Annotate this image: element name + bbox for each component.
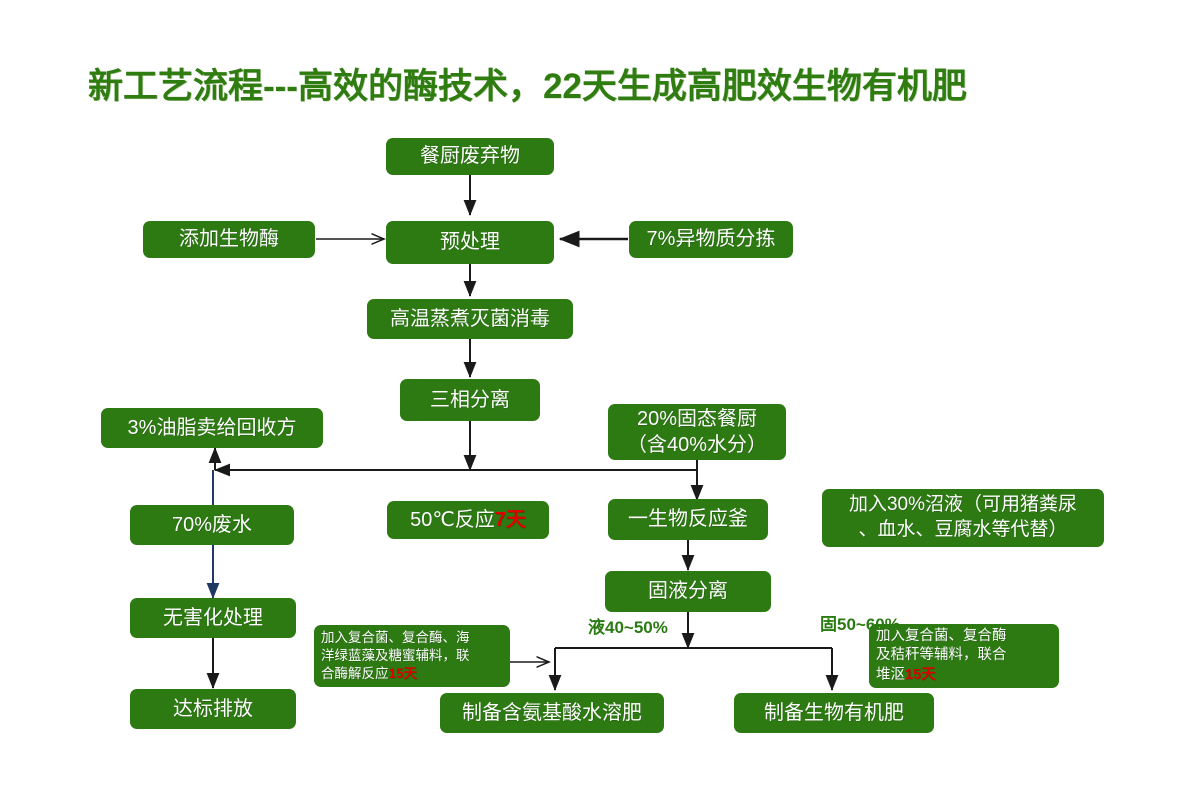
node-high-temp-sterilization[interactable]: 高温蒸煮灭菌消毒 <box>367 299 573 339</box>
node-left-additives-days: 15天 <box>389 666 418 681</box>
node-kitchen-waste[interactable]: 餐厨废弃物 <box>386 138 554 175</box>
node-amino-acid-fertilizer[interactable]: 制备含氨基酸水溶肥 <box>440 693 664 733</box>
node-standard-discharge-label: 达标排放 <box>173 697 253 722</box>
node-right-additives-line3-prefix: 堆沤 <box>876 667 905 683</box>
node-left-additives-line2: 洋绿蓝藻及糖蜜辅料，联 <box>321 647 470 665</box>
node-bio-organic-fertilizer-label: 制备生物有机肥 <box>764 701 904 726</box>
node-kitchen-waste-label: 餐厨废弃物 <box>420 144 520 169</box>
node-right-additives-line2: 及秸秆等辅料，联合 <box>876 646 1007 666</box>
node-solid-food-waste-line1: 20%固态餐厨 <box>637 406 757 432</box>
node-add-enzyme[interactable]: 添加生物酶 <box>143 221 315 258</box>
node-harmless-treatment[interactable]: 无害化处理 <box>130 598 296 638</box>
node-right-additives-days: 15天 <box>905 667 936 683</box>
node-solid-food-waste[interactable]: 20%固态餐厨 （含40%水分） <box>608 404 786 460</box>
node-left-additives[interactable]: 加入复合菌、复合酶、海 洋绿蓝藻及糖蜜辅料，联 合酶解反应15天 <box>314 625 510 687</box>
node-foreign-matter-sorting[interactable]: 7%异物质分拣 <box>629 221 793 258</box>
node-solid-liquid-separation[interactable]: 固液分离 <box>605 571 771 612</box>
node-biogas-slurry-line1: 加入30%沼液（可用猪粪尿 <box>849 493 1077 518</box>
node-solid-liquid-separation-label: 固液分离 <box>648 579 728 604</box>
node-pretreatment[interactable]: 预处理 <box>386 221 554 264</box>
node-left-additives-line3-prefix: 合酶解反应 <box>321 666 389 681</box>
node-add-enzyme-label: 添加生物酶 <box>179 227 279 252</box>
flowchart-canvas: 新工艺流程---高效的酶技术，22天生成高肥效生物有机肥 餐厨废弃物 添加生物酶… <box>0 0 1200 801</box>
node-waste-water[interactable]: 70%废水 <box>130 505 294 545</box>
edge-label-liquid-ratio: 液40~50% <box>588 613 668 638</box>
node-bioreactor-label: 一生物反应釜 <box>628 507 748 532</box>
node-amino-acid-fertilizer-label: 制备含氨基酸水溶肥 <box>462 701 642 726</box>
node-right-additives-line3: 堆沤15天 <box>876 666 936 686</box>
node-biogas-slurry-line2: 、血水、豆腐水等代替） <box>858 518 1067 543</box>
node-oil-sold-to-recycler-label: 3%油脂卖给回收方 <box>128 416 297 441</box>
node-oil-sold-to-recycler[interactable]: 3%油脂卖给回收方 <box>101 408 323 448</box>
node-foreign-matter-sorting-label: 7%异物质分拣 <box>647 227 776 252</box>
node-reaction-50c-days: 7天 <box>495 508 526 533</box>
node-left-additives-line3: 合酶解反应15天 <box>321 665 417 683</box>
node-solid-food-waste-line2: （含40%水分） <box>627 432 767 458</box>
edge-label-solid-ratio: 固50~60% <box>820 610 900 635</box>
node-waste-water-label: 70%废水 <box>172 513 252 538</box>
node-reaction-50c-prefix: 50℃反应 <box>410 508 495 533</box>
node-pretreatment-label: 预处理 <box>440 230 500 255</box>
node-high-temp-sterilization-label: 高温蒸煮灭菌消毒 <box>390 307 550 332</box>
node-three-phase-separation[interactable]: 三相分离 <box>400 379 540 421</box>
node-biogas-slurry[interactable]: 加入30%沼液（可用猪粪尿 、血水、豆腐水等代替） <box>822 489 1104 547</box>
node-harmless-treatment-label: 无害化处理 <box>163 606 263 631</box>
node-bio-organic-fertilizer[interactable]: 制备生物有机肥 <box>734 693 934 733</box>
node-standard-discharge[interactable]: 达标排放 <box>130 689 296 729</box>
page-title: 新工艺流程---高效的酶技术，22天生成高肥效生物有机肥 <box>88 58 1088 109</box>
node-reaction-50c[interactable]: 50℃反应7天 <box>387 501 549 539</box>
node-three-phase-separation-label: 三相分离 <box>430 388 510 413</box>
node-bioreactor[interactable]: 一生物反应釜 <box>608 499 768 540</box>
node-left-additives-line1: 加入复合菌、复合酶、海 <box>321 629 470 647</box>
